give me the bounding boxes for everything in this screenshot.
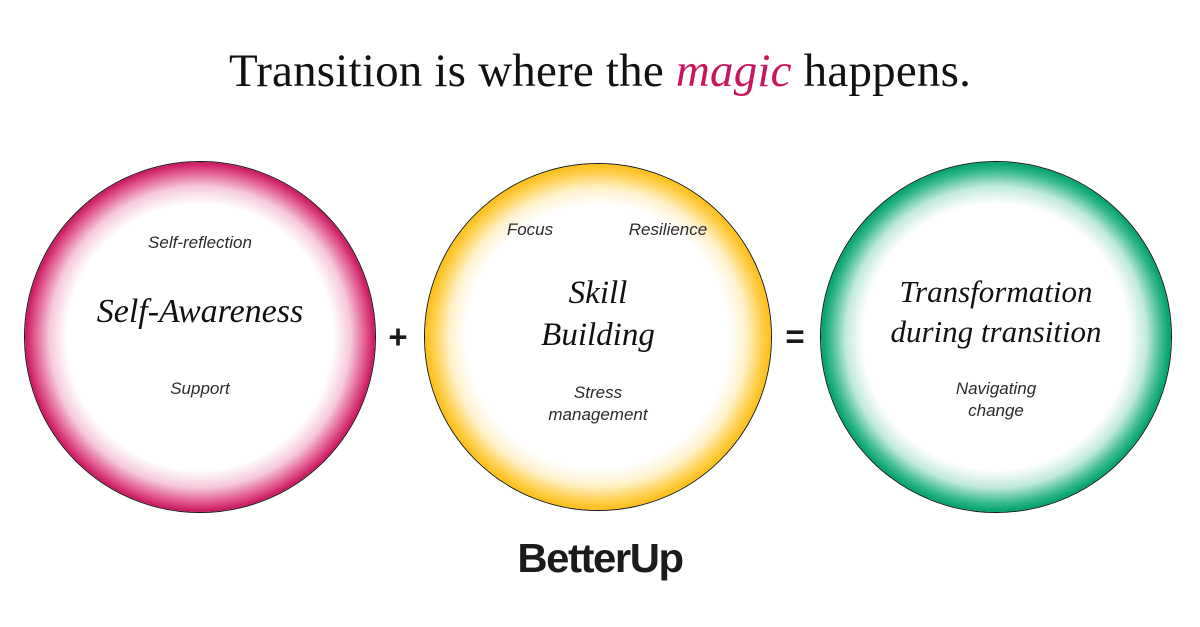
self-awareness-bottom-label: Support [45,378,355,400]
self-awareness-top-label: Self-reflection [45,232,355,254]
skill-building-top-label-left: Focus [478,219,582,241]
plus-operator-icon: + [378,320,418,353]
equation-diagram: Self-reflection Self-Awareness Support +… [0,0,1200,627]
circle-self-awareness [24,161,376,513]
skill-building-top-label-right: Resilience [612,219,724,241]
skill-building-bottom-label: Stress management [498,382,698,426]
skill-building-main-label: Skill Building [448,272,748,356]
equals-operator-icon: = [775,320,815,353]
transformation-bottom-label: Navigating change [896,378,1096,422]
self-awareness-main-label: Self-Awareness [30,292,370,332]
pink-glow-ring [25,162,375,512]
betterup-logo: BetterUp [0,534,1200,582]
transformation-main-label: Transformation during transition [846,272,1146,352]
